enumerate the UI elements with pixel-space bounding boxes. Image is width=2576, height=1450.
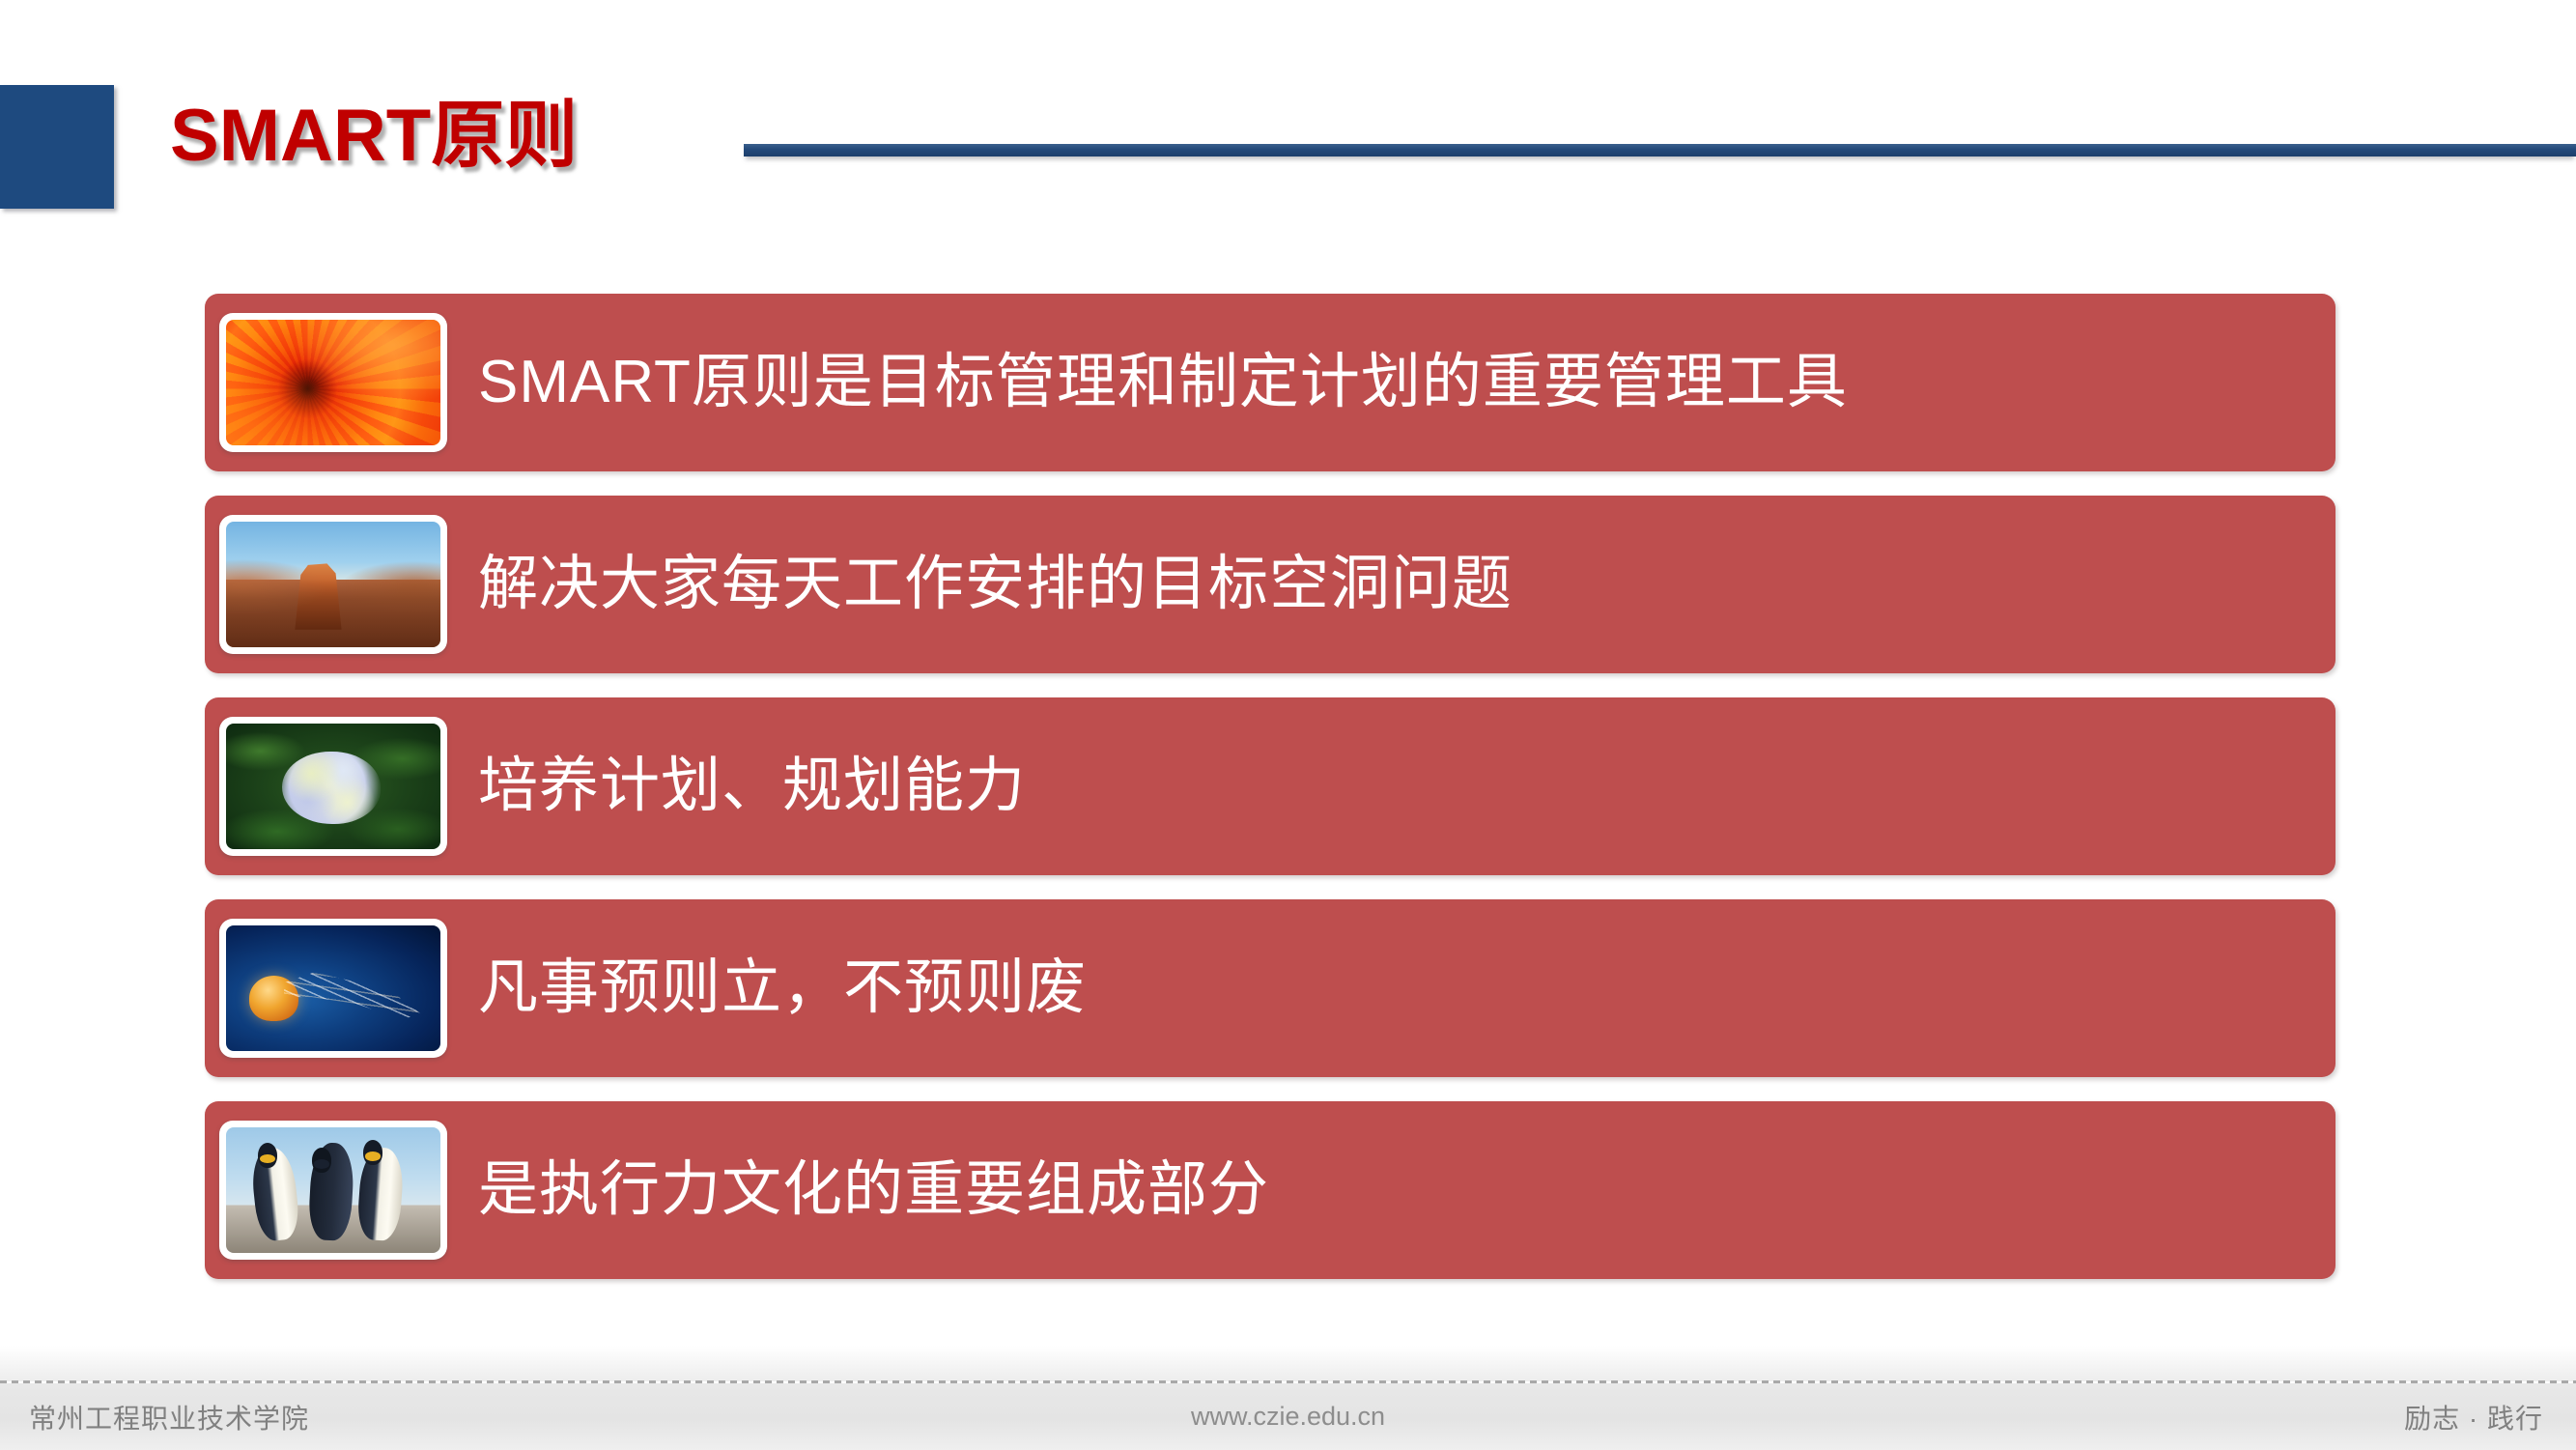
jellyfish-photo <box>226 925 440 1051</box>
row-thumbnail-frame <box>219 717 447 856</box>
row-label: 培养计划、规划能力 <box>478 754 1026 817</box>
title-underline-bar <box>744 144 2576 156</box>
footer-institution: 常州工程职业技术学院 <box>29 1398 309 1436</box>
row-label: 凡事预则立，不预则废 <box>478 956 1087 1019</box>
header-accent-block <box>0 85 114 209</box>
desert-mesa-photo <box>226 522 440 647</box>
title-underline-rule <box>744 144 2576 165</box>
content-row[interactable]: 凡事预则立，不预则废 <box>205 899 2335 1077</box>
content-row[interactable]: 培养计划、规划能力 <box>205 697 2335 875</box>
row-thumbnail-frame <box>219 1121 447 1260</box>
row-thumbnail-frame <box>219 313 447 452</box>
row-label: 是执行力文化的重要组成部分 <box>478 1158 1269 1221</box>
content-row[interactable]: 是执行力文化的重要组成部分 <box>205 1101 2335 1279</box>
content-row[interactable]: SMART原则是目标管理和制定计划的重要管理工具 <box>205 294 2335 471</box>
penguin-head <box>363 1140 382 1165</box>
content-row-list: SMART原则是目标管理和制定计划的重要管理工具 解决大家每天工作安排的目标空洞… <box>205 294 2335 1279</box>
orange-chrysanthemum-photo <box>226 320 440 445</box>
hydrangea-flower-photo <box>226 724 440 849</box>
king-penguins-photo <box>226 1127 440 1253</box>
slide-canvas: SMART原则 SMART原则是目标管理和制定计划的重要管理工具 解决大家每天工… <box>0 0 2576 1450</box>
page-title: SMART原则 <box>170 83 578 189</box>
penguin-head <box>258 1143 277 1168</box>
penguin-head <box>312 1148 331 1173</box>
footer-motto: 励志 · 践行 <box>2404 1398 2543 1436</box>
row-thumbnail-frame <box>219 515 447 654</box>
row-thumbnail-frame <box>219 919 447 1058</box>
content-row[interactable]: 解决大家每天工作安排的目标空洞问题 <box>205 496 2335 673</box>
row-label: 解决大家每天工作安排的目标空洞问题 <box>478 553 1513 615</box>
row-label: SMART原则是目标管理和制定计划的重要管理工具 <box>478 351 1848 413</box>
footer-content: 常州工程职业技术学院 www.czie.edu.cn 励志 · 践行 <box>0 1383 2576 1450</box>
footer-gradient <box>0 1346 2576 1381</box>
footer-website: www.czie.edu.cn <box>1191 1402 1385 1432</box>
slide-footer: 常州工程职业技术学院 www.czie.edu.cn 励志 · 践行 <box>0 1346 2576 1450</box>
